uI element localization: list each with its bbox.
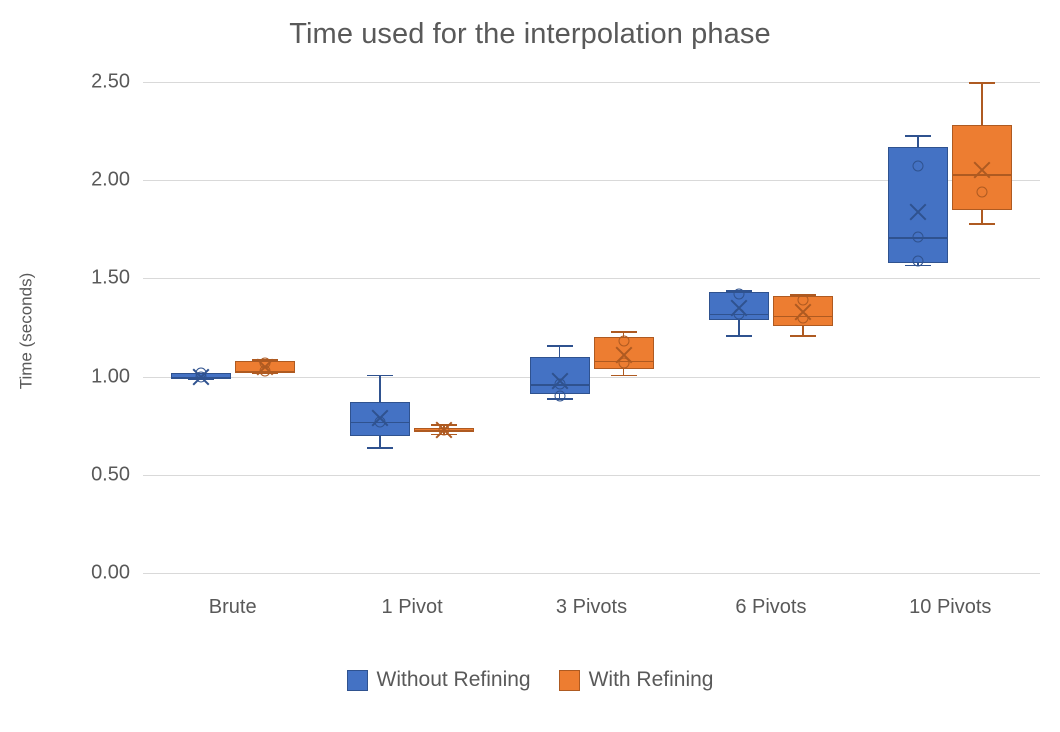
whisker-cap-upper: [547, 345, 573, 347]
legend-swatch-icon: [559, 670, 580, 691]
whisker-upper: [379, 375, 381, 402]
data-point-marker: [554, 391, 565, 402]
mean-marker-x: [190, 366, 212, 388]
whisker-cap-upper: [611, 331, 637, 333]
gridline: [143, 573, 1040, 574]
y-axis-tick-label: 0.50: [55, 463, 130, 486]
data-point-marker: [913, 161, 924, 172]
mean-marker-x: [728, 297, 750, 319]
plot-area: [143, 82, 1040, 573]
y-axis-title-label: Time (seconds): [16, 273, 36, 390]
y-axis-tick-label: 2.50: [55, 71, 130, 94]
whisker-upper: [981, 82, 983, 125]
mean-marker-x: [369, 407, 391, 429]
whisker-cap-upper: [969, 82, 995, 84]
whisker-cap-upper: [905, 135, 931, 137]
x-axis-tick-label: 10 Pivots: [909, 596, 991, 619]
mean-marker-x: [254, 356, 276, 378]
legend-entry[interactable]: Without Refining: [347, 668, 531, 692]
whisker-cap-lower: [790, 335, 816, 337]
whisker-cap-lower: [726, 335, 752, 337]
data-point-marker: [913, 232, 924, 243]
data-point-marker: [977, 186, 988, 197]
mean-marker-x: [792, 301, 814, 323]
whisker-lower: [379, 436, 381, 448]
legend-label: Without Refining: [377, 668, 531, 692]
mean-marker-x: [613, 344, 635, 366]
y-axis-title: Time (seconds): [6, 0, 46, 732]
mean-marker-x: [549, 370, 571, 392]
y-axis-tick-labels: 0.000.501.001.502.002.50: [50, 82, 130, 573]
whisker-lower: [802, 326, 804, 336]
chart-legend: Without RefiningWith Refining: [0, 668, 1060, 692]
gridline: [143, 377, 1040, 378]
whisker-lower: [981, 210, 983, 224]
mean-marker-x: [433, 419, 455, 441]
legend-label: With Refining: [589, 668, 714, 692]
whisker-cap-lower: [969, 223, 995, 225]
whisker-lower: [738, 320, 740, 336]
y-axis-tick-label: 0.00: [55, 562, 130, 585]
gridline: [143, 82, 1040, 83]
x-axis-tick-label: 3 Pivots: [556, 596, 627, 619]
whisker-cap-lower: [367, 447, 393, 449]
box-plot-chart: Time used for the interpolation phase Ti…: [0, 0, 1060, 732]
x-axis-tick-label: Brute: [209, 596, 257, 619]
data-point-marker: [913, 255, 924, 266]
legend-entry[interactable]: With Refining: [559, 668, 714, 692]
gridline: [143, 278, 1040, 279]
legend-swatch-icon: [347, 670, 368, 691]
whisker-cap-upper: [367, 375, 393, 377]
y-axis-tick-label: 1.50: [55, 267, 130, 290]
chart-title: Time used for the interpolation phase: [0, 18, 1060, 51]
x-axis-tick-label: 1 Pivot: [382, 596, 443, 619]
x-axis-tick-label: 6 Pivots: [735, 596, 806, 619]
mean-marker-x: [971, 159, 993, 181]
mean-marker-x: [907, 201, 929, 223]
whisker-cap-lower: [611, 375, 637, 377]
y-axis-tick-label: 2.00: [55, 169, 130, 192]
y-axis-tick-label: 1.00: [55, 365, 130, 388]
gridline: [143, 475, 1040, 476]
